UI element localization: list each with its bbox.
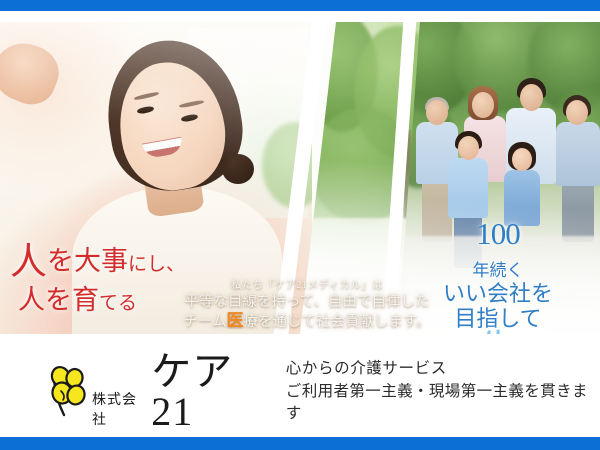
banner-copy-right: 100年続く いい会社を 目指して 生きます bbox=[396, 218, 600, 334]
company-logo[interactable]: 株式会社 ケア21 心からの介護サービス ご利用者第一主義・現場第一主義を貫きま… bbox=[44, 352, 600, 432]
banner-copy-left: 人を大事にし、 人を育てる bbox=[10, 244, 200, 314]
company-brand: ケア21 bbox=[151, 352, 274, 432]
copy-right-number: 100 bbox=[396, 218, 600, 250]
company-prefix: 株式会社 bbox=[92, 389, 151, 432]
copy-right-line3: 目指して bbox=[396, 308, 600, 330]
top-brand-bar bbox=[0, 0, 600, 11]
copy-right-line4-kanji: 生 bbox=[396, 331, 600, 334]
copy-left-line2-mid: 人を育 bbox=[18, 285, 99, 315]
copy-left-line2-small: てる bbox=[99, 293, 137, 314]
company-name: 株式会社 ケア21 bbox=[92, 352, 274, 432]
copy-left-line1-small: にし、 bbox=[128, 254, 185, 275]
hero-banner: 人を大事にし、 人を育てる 私たち「ケア21メディカル」は 平等な目線を持って、… bbox=[0, 22, 600, 334]
footer-brand-row: 株式会社 ケア21 心からの介護サービス ご利用者第一主義・現場第一主義を貫きま… bbox=[0, 340, 600, 436]
copy-left-line1-big: 人 bbox=[10, 242, 47, 283]
copy-center-line3-highlight: 医 bbox=[227, 311, 244, 330]
bottom-brand-bar bbox=[0, 437, 600, 450]
copy-right-line1-rest: 年続く bbox=[473, 261, 524, 280]
butterfly-icon bbox=[44, 365, 90, 419]
page-root: 人を大事にし、 人を育てる 私たち「ケア21メディカル」は 平等な目線を持って、… bbox=[0, 0, 600, 450]
copy-left-line1-mid: を大事 bbox=[47, 246, 128, 276]
company-tagline: 心からの介護サービス ご利用者第一主義・現場第一主義を貫きます bbox=[286, 358, 600, 425]
copy-right-line2: いい会社を bbox=[396, 283, 600, 305]
tagline-line-1: 心からの介護サービス bbox=[286, 358, 600, 380]
tagline-line-2: ご利用者第一主義・現場第一主義を貫きます bbox=[286, 381, 600, 426]
copy-center-line3-a: チーム bbox=[183, 314, 226, 330]
